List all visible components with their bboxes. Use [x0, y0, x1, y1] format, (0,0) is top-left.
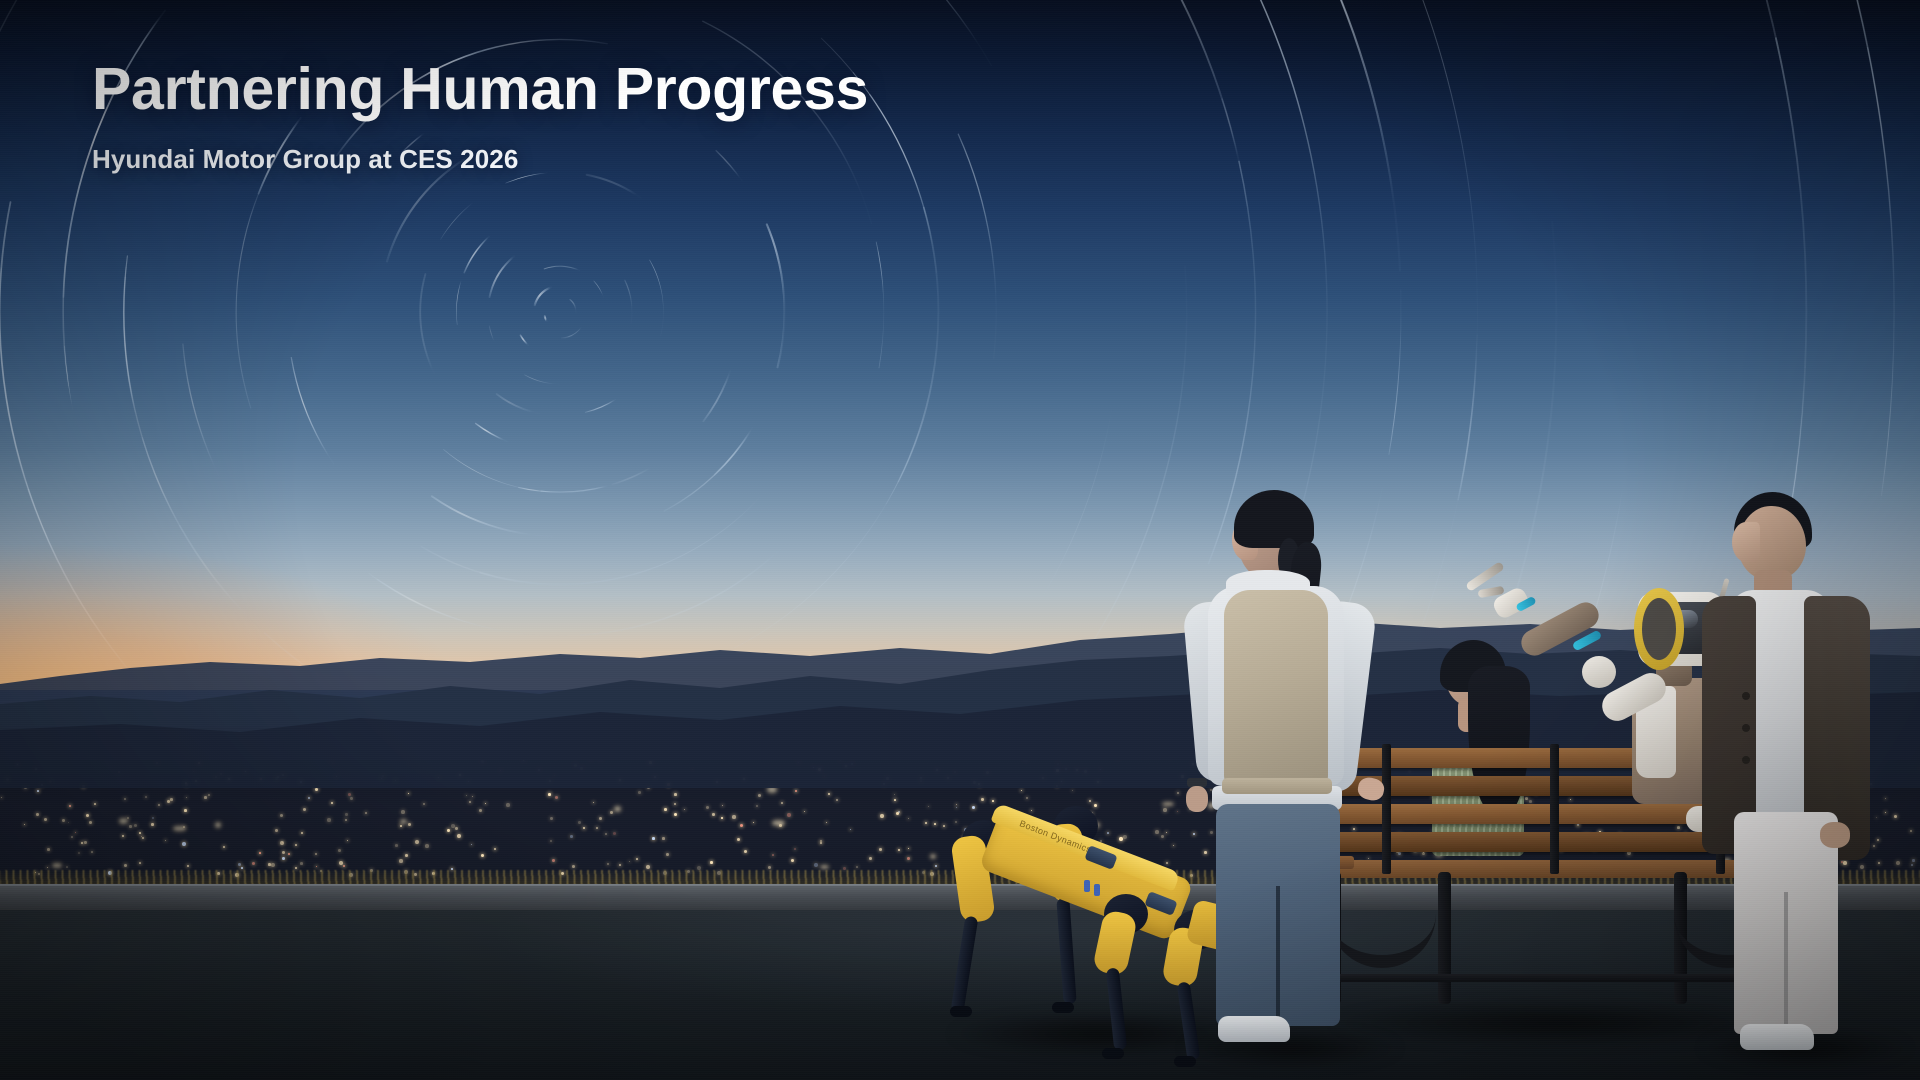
city-light: [613, 832, 616, 835]
city-light: [455, 827, 458, 830]
city-light: [75, 832, 76, 833]
city-light: [907, 857, 910, 860]
city-light: [925, 822, 927, 824]
man-cardigan-button: [1742, 724, 1750, 732]
city-light: [316, 866, 317, 867]
man-trouser-seam: [1784, 892, 1788, 1032]
city-light: [710, 861, 713, 864]
city-light: [956, 804, 957, 805]
woman-hair-front: [1234, 490, 1314, 548]
bench-back-post: [1382, 744, 1391, 874]
city-light: [89, 821, 92, 824]
city-light: [170, 798, 173, 801]
city-light: [596, 827, 598, 829]
city-light: [343, 865, 345, 867]
city-light: [71, 836, 73, 838]
city-light: [652, 837, 655, 840]
city-light: [555, 796, 558, 799]
city-light: [722, 805, 723, 806]
city-light-bloom: [821, 866, 828, 868]
city-light: [400, 825, 402, 827]
man-cardigan-button: [1742, 756, 1750, 764]
city-light: [928, 806, 929, 807]
hero-scene: Boston Dynamics: [0, 0, 1920, 1080]
woman-standing: [1182, 486, 1382, 1066]
city-light: [241, 867, 243, 869]
city-light: [610, 811, 613, 814]
city-light: [401, 810, 405, 814]
city-light: [68, 822, 69, 823]
city-light: [280, 814, 283, 817]
city-light: [423, 803, 425, 805]
city-light: [1910, 830, 1912, 832]
city-light: [814, 863, 818, 867]
city-light: [145, 796, 147, 798]
city-light: [956, 807, 957, 808]
man-standing: [1698, 492, 1908, 1072]
city-light: [425, 844, 429, 848]
city-light: [768, 866, 771, 869]
city-light: [572, 865, 575, 868]
woman-sneaker: [1218, 1016, 1290, 1042]
city-light: [308, 797, 310, 799]
city-light: [674, 813, 677, 816]
city-light: [300, 862, 303, 865]
city-light: [124, 864, 127, 867]
city-light: [481, 854, 484, 857]
city-light: [466, 795, 467, 796]
city-light: [879, 848, 882, 851]
city-light: [295, 867, 297, 869]
city-light-bloom: [216, 823, 220, 827]
city-light: [472, 796, 473, 797]
city-light: [415, 840, 419, 844]
man-cardigan-button: [1742, 692, 1750, 700]
city-light: [94, 803, 96, 805]
city-light: [78, 852, 80, 854]
city-light-bloom: [773, 821, 784, 825]
city-light: [638, 791, 641, 794]
city-light: [794, 848, 796, 850]
city-light: [550, 840, 552, 842]
robot-head-ring-inner: [1642, 598, 1676, 660]
city-light: [706, 806, 709, 809]
city-light: [347, 840, 348, 841]
city-light: [619, 864, 621, 866]
city-light: [399, 859, 403, 863]
city-light: [182, 842, 186, 846]
city-light: [1, 797, 2, 798]
city-light: [37, 790, 39, 792]
city-light: [898, 849, 900, 851]
city-light: [828, 793, 830, 795]
city-light: [605, 833, 607, 835]
city-light: [365, 812, 367, 814]
woman-knit-vest: [1224, 590, 1328, 786]
headline-block: Partnering Human Progress Hyundai Motor …: [92, 58, 868, 175]
woman-right-hand: [1356, 776, 1386, 803]
city-light: [91, 851, 93, 853]
city-light: [684, 809, 685, 810]
city-light: [152, 817, 154, 819]
city-light: [447, 829, 450, 832]
city-light: [122, 835, 124, 837]
city-light: [350, 797, 353, 800]
city-light: [636, 858, 638, 860]
city-light: [740, 824, 743, 827]
page-subtitle: Hyundai Motor Group at CES 2026: [92, 144, 868, 175]
city-light: [223, 846, 225, 848]
city-light: [66, 866, 68, 868]
city-light: [732, 815, 736, 819]
city-light: [791, 859, 794, 862]
city-light: [629, 861, 630, 862]
city-light: [583, 827, 585, 829]
bench-leg: [1438, 872, 1451, 1004]
city-light: [1021, 790, 1022, 791]
city-light: [408, 823, 411, 826]
city-light: [134, 824, 137, 827]
city-light: [880, 814, 884, 818]
city-light: [506, 803, 510, 807]
city-light: [62, 819, 65, 822]
city-light: [315, 788, 318, 791]
city-light: [151, 823, 154, 826]
city-light: [408, 793, 409, 794]
spot-rear-foot-2: [1052, 1002, 1074, 1013]
city-light: [282, 857, 285, 860]
city-light: [44, 818, 47, 821]
city-light: [280, 841, 284, 845]
city-light: [869, 857, 872, 860]
city-light: [662, 837, 665, 840]
city-light: [1911, 864, 1913, 866]
city-light: [395, 844, 398, 847]
page-title: Partnering Human Progress: [92, 58, 868, 122]
city-light: [315, 853, 317, 855]
city-light: [548, 793, 551, 796]
city-light: [348, 793, 351, 796]
city-light: [721, 817, 723, 819]
city-light: [664, 808, 667, 811]
spot-rear-foot: [950, 1006, 972, 1017]
city-light: [139, 862, 141, 864]
city-light: [259, 852, 261, 854]
city-light: [69, 805, 71, 807]
city-light: [129, 825, 132, 828]
city-light: [186, 797, 187, 798]
city-light: [301, 832, 303, 834]
city-light: [599, 817, 602, 820]
woman-left-hand: [1186, 786, 1208, 812]
city-light: [451, 824, 455, 828]
city-light: [593, 802, 594, 803]
city-light: [820, 842, 822, 844]
city-light-bloom: [931, 855, 935, 858]
city-light: [578, 821, 581, 824]
woman-jeans-seam: [1276, 886, 1280, 1028]
city-light: [894, 794, 895, 795]
city-light: [896, 812, 899, 815]
city-light: [494, 848, 496, 850]
city-light: [1912, 859, 1915, 862]
city-light: [781, 802, 783, 804]
city-light: [36, 813, 39, 816]
city-light-bloom: [53, 864, 61, 867]
city-light: [47, 848, 50, 851]
city-light: [753, 822, 754, 823]
city-light: [184, 809, 187, 812]
city-light: [570, 835, 573, 838]
city-light: [894, 799, 896, 801]
city-light: [457, 834, 461, 838]
city-light: [187, 865, 189, 867]
robot-left-elbow: [1582, 656, 1616, 688]
city-light: [934, 823, 936, 825]
city-light: [856, 866, 858, 868]
city-light: [674, 803, 676, 805]
city-light: [208, 794, 210, 796]
city-light: [84, 841, 87, 844]
spot-indicator-light: [1084, 880, 1090, 892]
city-light: [86, 814, 89, 817]
city-light: [804, 811, 805, 812]
city-light: [405, 854, 408, 857]
city-light: [303, 808, 306, 811]
city-light: [772, 854, 774, 856]
city-light: [943, 825, 945, 827]
city-light: [24, 824, 25, 825]
city-light: [756, 805, 758, 807]
city-light-bloom: [615, 807, 620, 811]
city-light: [1072, 790, 1073, 791]
city-light: [850, 829, 851, 830]
city-light-bloom: [174, 827, 185, 830]
spot-indicator-light: [1094, 884, 1100, 896]
city-light: [479, 809, 482, 812]
city-light: [666, 853, 669, 856]
city-light: [127, 817, 129, 819]
city-light: [295, 844, 297, 846]
city-light: [124, 798, 126, 800]
city-light: [471, 844, 472, 845]
city-light: [485, 803, 486, 804]
city-light: [345, 813, 348, 816]
city-light: [552, 859, 555, 862]
city-light: [836, 799, 838, 801]
city-light: [47, 867, 48, 868]
city-light: [165, 840, 166, 841]
city-light: [345, 819, 347, 821]
city-light: [338, 849, 341, 852]
city-light: [139, 832, 141, 834]
city-light: [550, 817, 553, 820]
city-light: [275, 829, 278, 832]
man-sneaker: [1740, 1024, 1814, 1050]
city-light: [268, 863, 271, 866]
city-light: [327, 818, 331, 822]
city-light: [758, 794, 761, 797]
man-hand: [1820, 822, 1850, 848]
city-light: [271, 863, 275, 867]
city-light: [331, 802, 333, 804]
spot-rear-shin-2: [1056, 898, 1076, 1005]
city-light: [955, 821, 957, 823]
city-light: [674, 793, 677, 796]
city-light: [282, 851, 285, 854]
city-light-bloom: [120, 819, 127, 823]
city-light: [908, 848, 909, 849]
city-light: [141, 836, 142, 837]
city-light: [238, 863, 241, 866]
city-light: [712, 813, 715, 816]
city-light: [795, 790, 797, 792]
city-light: [142, 837, 144, 839]
city-light: [744, 850, 747, 853]
city-light: [935, 865, 937, 867]
bench-back-post: [1550, 744, 1559, 874]
city-light: [252, 862, 255, 865]
spot-front-shin: [1106, 968, 1128, 1051]
city-light: [158, 804, 160, 806]
city-light: [469, 801, 471, 803]
city-light: [737, 838, 740, 841]
city-light: [204, 796, 207, 799]
spot-front-foot: [1102, 1048, 1124, 1059]
city-light: [908, 818, 909, 819]
city-light: [646, 865, 650, 869]
city-light: [607, 863, 609, 865]
city-light-bloom: [401, 820, 406, 823]
city-light: [826, 822, 827, 823]
spot-front-thigh: [1092, 909, 1138, 977]
woman-vest-hem: [1222, 778, 1332, 794]
man-face: [1732, 522, 1760, 562]
city-light: [288, 853, 290, 855]
city-light: [787, 813, 791, 817]
city-light: [81, 842, 83, 844]
